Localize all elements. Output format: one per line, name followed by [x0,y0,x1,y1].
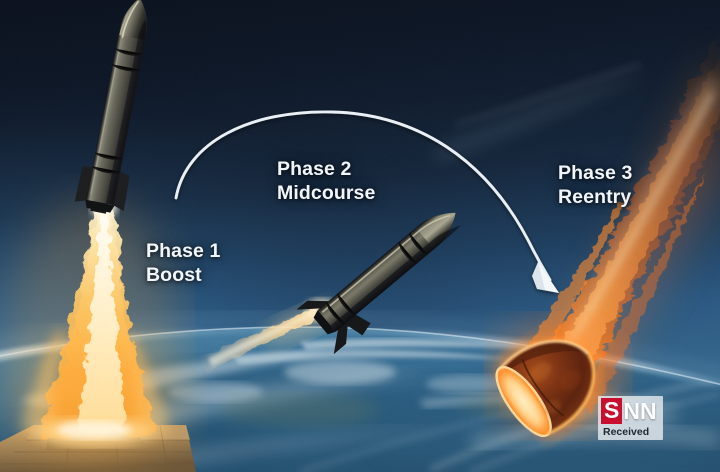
logo-wordmark: S NN [601,398,657,424]
trajectory-arrow [176,112,559,293]
illustration-scene: Phase 1 Boost Phase 2 Midcourse Phase 3 … [0,0,720,472]
logo-letters: NN [623,400,656,423]
logo-status-text: Received [603,427,649,438]
logo-badge-letter: S [601,398,622,424]
watermark-logo: S NN Received [598,396,663,440]
